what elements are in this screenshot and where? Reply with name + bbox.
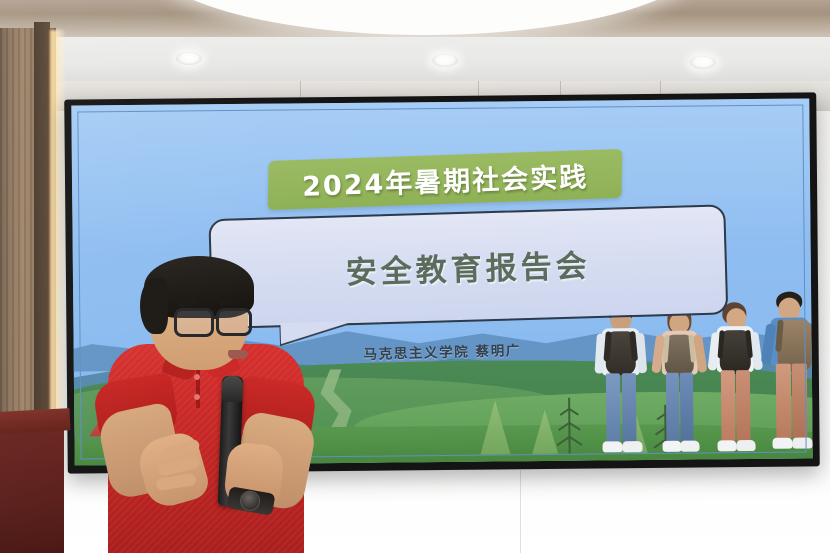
screenshot-scene: 2024年暑期社会实践 安全教育报告会 马克思主义学院 蔡明广: [0, 0, 830, 553]
speaker-mouth: [228, 350, 248, 359]
eyeglasses-bridge: [212, 316, 219, 319]
shirt-button: [194, 394, 200, 400]
downlight-icon: [176, 52, 202, 65]
lectern-top: [0, 408, 71, 434]
shirt-placket: [196, 366, 200, 408]
downlight-icon: [690, 56, 716, 69]
shirt-button: [194, 374, 200, 380]
speaker-figure: [88, 258, 313, 553]
microphone-head: [221, 376, 243, 403]
speaker-sideburn: [140, 278, 168, 334]
wall-seam: [520, 470, 521, 553]
lectern: [0, 418, 64, 553]
eyeglasses-icon: [174, 308, 214, 337]
eyeglasses-icon: [216, 308, 252, 336]
watch-face: [238, 489, 261, 512]
downlight-icon: [432, 54, 458, 67]
